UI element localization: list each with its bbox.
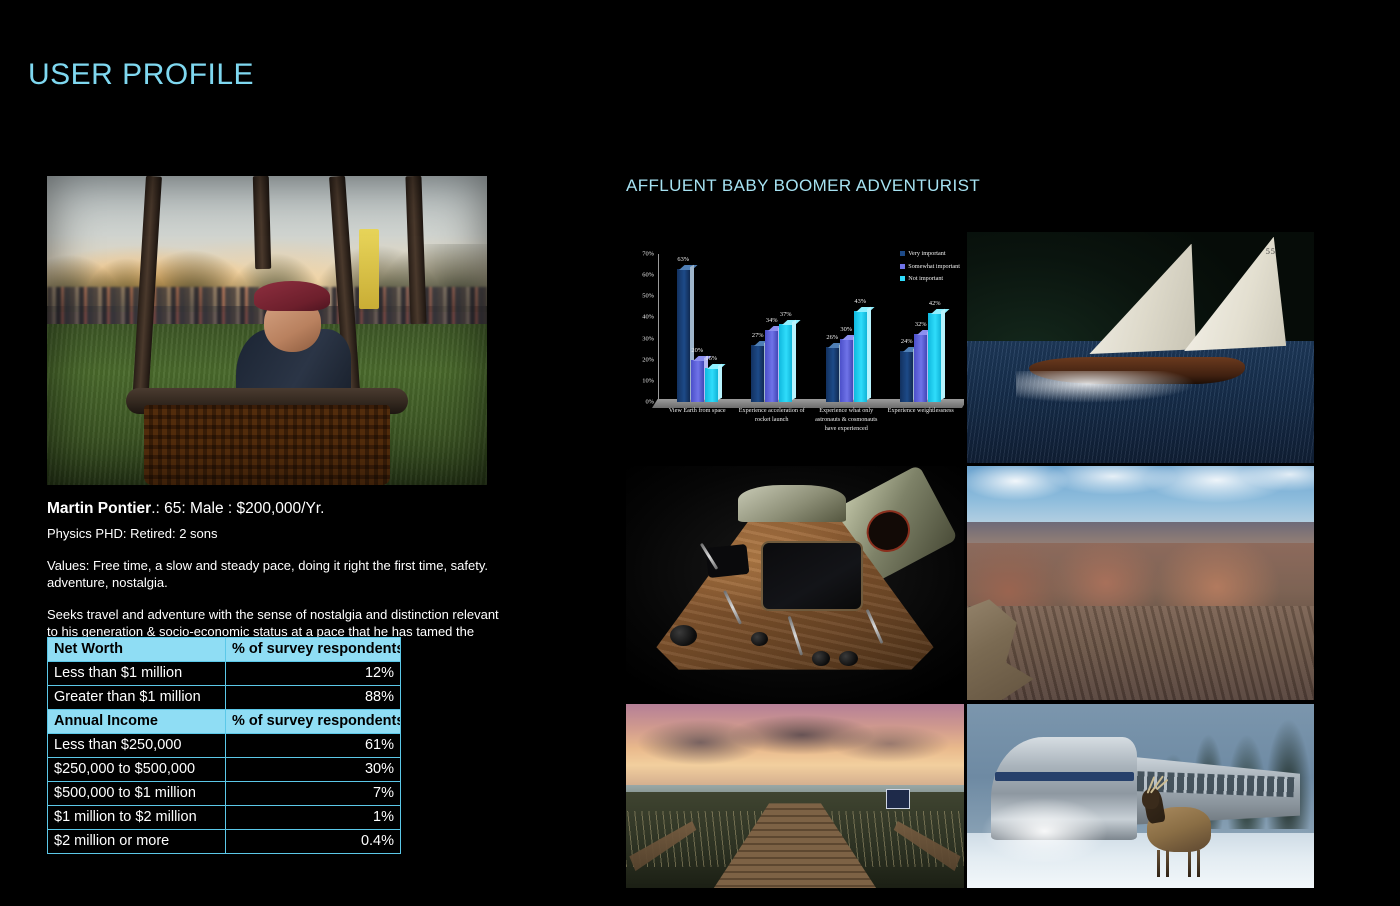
row-label: Less than $250,000 <box>48 734 226 758</box>
chart-bar-face <box>691 360 704 402</box>
row-label: $2 million or more <box>48 830 226 854</box>
chart-bar-face <box>840 339 853 402</box>
elk-figure <box>1141 774 1217 877</box>
row-label: $250,000 to $500,000 <box>48 758 226 782</box>
table-row: $250,000 to $500,000 30% <box>48 758 401 782</box>
bow-spray <box>1016 371 1196 403</box>
chart-bar <box>854 311 867 402</box>
grand-canyon-photo <box>967 466 1314 700</box>
persona-name: Martin Pontier <box>47 500 151 517</box>
survey-bar-chart: 0%10%20%30%40%50%60%70% 63%20%16%27%34%3… <box>626 242 964 460</box>
table-row: $1 million to $2 million 1% <box>48 806 401 830</box>
chart-category-label: Experience what only astronauts & cosmon… <box>809 407 883 434</box>
chart-bar-group: 26%30%43% <box>826 254 867 402</box>
chart-bar-value-label: 42% <box>929 300 941 307</box>
elk-leg <box>1188 850 1191 877</box>
chart-bar-face <box>705 368 718 402</box>
chart-bar-face <box>751 345 764 402</box>
elk-leg <box>1197 850 1200 877</box>
chart-y-tick: 40% <box>642 314 654 321</box>
chart-bar-value-label: 30% <box>840 326 852 333</box>
chart-bar-face <box>779 324 792 402</box>
chart-area: 0%10%20%30%40%50%60%70% 63%20%16%27%34%3… <box>626 242 964 460</box>
chart-bar-slot: 43% <box>854 254 867 402</box>
row-value: 88% <box>226 686 401 710</box>
chart-bar <box>928 313 941 402</box>
chart-bar-top <box>856 307 875 312</box>
balloon-support-post <box>253 176 271 269</box>
table-header-respondents: % of survey respondents <box>226 638 401 662</box>
chart-bar-side <box>792 319 796 400</box>
train-steam-plume <box>981 785 1141 862</box>
chart-bar-group: 63%20%16% <box>677 254 718 402</box>
chart-legend-label: Very important <box>908 250 945 257</box>
balloon-basket <box>144 405 390 485</box>
persona-name-details: .: 65: Male : $200,000/Yr. <box>151 500 324 517</box>
chart-y-tick: 30% <box>642 335 654 342</box>
chart-bar-value-label: 27% <box>752 332 764 339</box>
chart-bar-value-label: 20% <box>691 347 703 354</box>
row-label: Less than $1 million <box>48 662 226 686</box>
page-title: USER PROFILE <box>28 58 254 92</box>
chart-bar-slot: 26% <box>826 254 839 402</box>
streamliner-train-photo <box>967 704 1314 888</box>
chart-bar <box>840 339 853 402</box>
chart-bar-face <box>677 269 690 402</box>
persona-name-line: Martin Pontier.: 65: Male : $200,000/Yr. <box>47 499 547 518</box>
chart-bar <box>751 345 764 402</box>
chart-bar-face <box>900 351 913 402</box>
row-value: 7% <box>226 782 401 806</box>
chart-category-label: View Earth from space <box>660 407 734 416</box>
capsule-thruster-port <box>751 632 768 646</box>
chart-bar <box>779 324 792 402</box>
chart-bar <box>705 368 718 402</box>
chart-category-labels: View Earth from spaceExperience accelera… <box>660 404 958 460</box>
chart-bar-side <box>941 309 945 400</box>
row-value: 30% <box>226 758 401 782</box>
chart-legend-label: Not important <box>908 275 943 282</box>
chart-bar <box>900 351 913 402</box>
chart-bar-slot: 20% <box>691 254 704 402</box>
chart-bar-value-label: 34% <box>766 317 778 324</box>
chart-bar <box>914 334 927 402</box>
chart-bar-slot: 16% <box>705 254 718 402</box>
chart-bar <box>691 360 704 402</box>
chart-bar-value-label: 16% <box>705 355 717 362</box>
balloon-fuel-sleeve <box>359 229 379 309</box>
persona-values: Values: Free time, a slow and steady pac… <box>47 557 537 591</box>
chart-bar-value-label: 24% <box>901 338 913 345</box>
sailboat-photo: 55 <box>967 232 1314 463</box>
chart-bar-face <box>765 330 778 402</box>
persona-photo <box>47 176 487 485</box>
table-row: Less than $250,000 61% <box>48 734 401 758</box>
chart-bar <box>765 330 778 402</box>
chart-bar-slot: 27% <box>751 254 764 402</box>
capsule-thruster-port <box>839 651 858 666</box>
train-livery-stripe <box>995 772 1134 781</box>
chart-bar-face <box>928 313 941 402</box>
boardwalk-sign <box>886 789 910 809</box>
chart-y-tick: 10% <box>642 377 654 384</box>
chart-bar-face <box>826 347 839 402</box>
row-value: 1% <box>226 806 401 830</box>
chart-y-tick: 60% <box>642 272 654 279</box>
chart-y-tick: 70% <box>642 251 654 258</box>
table-row: Greater than $1 million 88% <box>48 686 401 710</box>
chart-bar-value-label: 32% <box>915 321 927 328</box>
capsule-apex <box>738 485 846 522</box>
chart-bar <box>677 269 690 402</box>
canyon-clouds-layer <box>967 466 1314 513</box>
row-value: 0.4% <box>226 830 401 854</box>
table-header-respondents: % of survey respondents <box>226 710 401 734</box>
chart-y-tick: 20% <box>642 356 654 363</box>
row-value: 12% <box>226 662 401 686</box>
boardwalk-clouds <box>626 711 964 774</box>
chart-bar-value-label: 37% <box>780 311 792 318</box>
sail-number: 55 <box>1266 248 1276 257</box>
chart-category-label: Experience weightlessness <box>884 407 958 416</box>
segment-title: AFFLUENT BABY BOOMER ADVENTURIST <box>626 176 1316 196</box>
chart-legend-item: Not important <box>900 275 960 282</box>
chart-legend: Very importantSomewhat importantNot impo… <box>900 250 960 282</box>
beach-boardwalk-photo <box>626 704 964 888</box>
table-row: Less than $1 million 12% <box>48 662 401 686</box>
table-row: $500,000 to $1 million 7% <box>48 782 401 806</box>
segment-panel: AFFLUENT BABY BOOMER ADVENTURIST 0%10%20… <box>626 176 1316 868</box>
media-grid: 0%10%20%30%40%50%60%70% 63%20%16%27%34%3… <box>626 208 1314 868</box>
chart-legend-label: Somewhat important <box>908 263 960 270</box>
chart-bar-side <box>718 364 722 400</box>
survey-table: Net Worth % of survey respondents Less t… <box>47 637 401 854</box>
apollo-capsule-photo <box>626 466 964 700</box>
chart-y-tick: 50% <box>642 293 654 300</box>
chart-legend-swatch <box>900 276 905 281</box>
elk-leg <box>1166 850 1169 877</box>
row-label: $1 million to $2 million <box>48 806 226 830</box>
chart-bar-value-label: 43% <box>854 298 866 305</box>
persona-panel: Martin Pontier.: 65: Male : $200,000/Yr.… <box>47 176 547 671</box>
table-header-annual-income: Annual Income <box>48 710 226 734</box>
capsule-thruster-port <box>670 625 697 646</box>
chart-y-axis: 0%10%20%30%40%50%60%70% <box>626 254 658 402</box>
chart-bar-slot: 30% <box>840 254 853 402</box>
persona-credentials: Physics PHD: Retired: 2 sons <box>47 526 547 543</box>
chart-bar-slot: 63% <box>677 254 690 402</box>
row-label: Greater than $1 million <box>48 686 226 710</box>
table-row: $2 million or more 0.4% <box>48 830 401 854</box>
chart-bar-face <box>914 334 927 402</box>
chart-bar-value-label: 26% <box>826 334 838 341</box>
chart-legend-item: Somewhat important <box>900 263 960 270</box>
chart-bar-group: 27%34%37% <box>751 254 792 402</box>
chart-legend-swatch <box>900 251 905 256</box>
row-value: 61% <box>226 734 401 758</box>
chart-bar-slot: 34% <box>765 254 778 402</box>
chart-legend-swatch <box>900 264 905 269</box>
chart-bar-slot: 37% <box>779 254 792 402</box>
chart-legend-item: Very important <box>900 250 960 257</box>
elk-leg <box>1157 850 1160 877</box>
chart-axis-line <box>658 254 659 402</box>
chart-category-label: Experience acceleration of rocket launch <box>735 407 809 425</box>
chart-bar-top <box>707 364 726 369</box>
chart-bar <box>826 347 839 402</box>
table-section-header: Net Worth % of survey respondents <box>48 638 401 662</box>
figure-beret <box>254 281 329 312</box>
chart-bar-value-label: 63% <box>677 256 689 263</box>
chart-bar-side <box>867 307 871 400</box>
chart-bar-face <box>854 311 867 402</box>
capsule-hatch-opening <box>761 541 862 611</box>
table-section-header: Annual Income % of survey respondents <box>48 710 401 734</box>
row-label: $500,000 to $1 million <box>48 782 226 806</box>
table-header-net-worth: Net Worth <box>48 638 226 662</box>
persona-description: Martin Pontier.: 65: Male : $200,000/Yr.… <box>47 499 547 657</box>
